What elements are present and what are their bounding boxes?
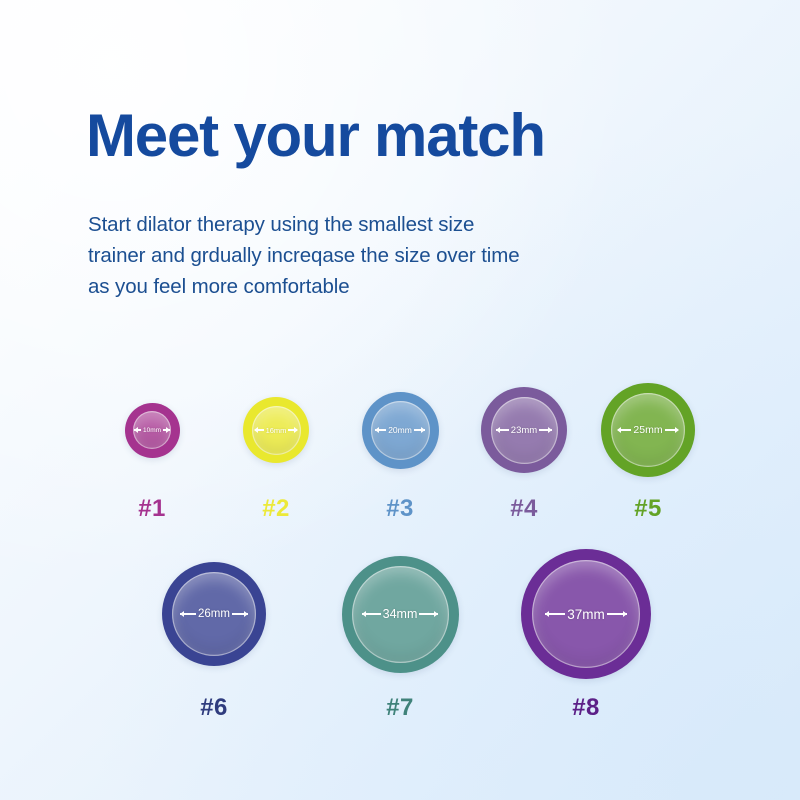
arrow-right-icon xyxy=(414,429,425,430)
arrow-right-icon xyxy=(607,613,627,614)
dilator-card-6[interactable]: 26mm#6 xyxy=(121,548,307,722)
subtitle-line-1: Start dilator therapy using the smallest… xyxy=(88,209,520,240)
page-subtitle: Start dilator therapy using the smallest… xyxy=(88,209,520,302)
dilator-disc[interactable]: 23mm xyxy=(481,387,567,473)
dimension-arrow: 20mm xyxy=(376,425,425,435)
dilator-disc-wrap: 25mm xyxy=(601,378,695,482)
page-title: Meet your match xyxy=(86,104,545,167)
dilator-index-label: #5 xyxy=(634,495,662,523)
dilator-card-7[interactable]: 34mm#7 xyxy=(307,548,493,722)
dilator-card-5[interactable]: 25mm#5 xyxy=(586,378,710,523)
arrow-right-icon xyxy=(419,613,437,614)
dimension-arrow: 26mm xyxy=(179,608,250,620)
arrow-right-icon xyxy=(665,429,679,430)
dimension-arrow: 25mm xyxy=(617,424,679,436)
dilator-card-4[interactable]: 23mm#4 xyxy=(462,378,586,523)
dilator-size-label: 37mm xyxy=(567,607,605,622)
dilator-size-label: 26mm xyxy=(198,608,230,620)
arrow-left-icon xyxy=(180,613,196,614)
dimension-arrow: 37mm xyxy=(540,607,632,622)
dilator-card-8[interactable]: 37mm#8 xyxy=(493,548,679,722)
dilator-disc-wrap: 23mm xyxy=(481,378,567,482)
subtitle-line-3: as you feel more comfortable xyxy=(88,271,520,302)
dilator-disc[interactable]: 25mm xyxy=(601,383,695,477)
dilator-index-label: #8 xyxy=(572,694,600,722)
arrow-right-icon xyxy=(288,429,297,430)
dilator-card-2[interactable]: 16mm#2 xyxy=(214,378,338,523)
dilator-card-3[interactable]: 20mm#3 xyxy=(338,378,462,523)
dilator-disc[interactable]: 20mm xyxy=(362,392,439,469)
dilator-disc-wrap: 34mm xyxy=(342,548,459,680)
arrow-left-icon xyxy=(134,429,141,430)
dilator-size-label: 25mm xyxy=(633,424,662,436)
dilator-disc-wrap: 20mm xyxy=(362,378,439,482)
arrow-left-icon xyxy=(496,429,508,430)
arrow-right-icon xyxy=(232,613,248,614)
dilator-row-bottom: 26mm#634mm#737mm#8 xyxy=(0,548,800,722)
dilator-disc[interactable]: 37mm xyxy=(521,549,651,679)
dilator-disc[interactable]: 16mm xyxy=(243,397,309,463)
dilator-row-top: 10mm#116mm#220mm#323mm#425mm#5 xyxy=(0,378,800,523)
arrow-left-icon xyxy=(618,429,632,430)
dilator-disc[interactable]: 26mm xyxy=(162,562,266,666)
dilator-size-label: 34mm xyxy=(383,607,418,621)
dilator-size-label: 20mm xyxy=(388,425,412,435)
dilator-size-label: 10mm xyxy=(143,427,161,434)
arrow-right-icon xyxy=(163,429,170,430)
arrow-left-icon xyxy=(255,429,264,430)
dilator-index-label: #2 xyxy=(262,495,290,523)
dimension-arrow: 10mm xyxy=(137,427,167,434)
arrow-left-icon xyxy=(375,429,386,430)
arrow-left-icon xyxy=(362,613,380,614)
dilator-disc-wrap: 16mm xyxy=(243,378,309,482)
dilator-disc[interactable]: 34mm xyxy=(342,556,459,673)
dilator-index-label: #6 xyxy=(200,694,228,722)
dilator-disc-wrap: 37mm xyxy=(521,548,651,680)
dilator-disc-wrap: 26mm xyxy=(162,548,266,680)
dilator-card-1[interactable]: 10mm#1 xyxy=(90,378,214,523)
dilator-index-label: #3 xyxy=(386,495,414,523)
dimension-arrow: 23mm xyxy=(496,425,552,436)
dilator-disc[interactable]: 10mm xyxy=(125,403,180,458)
dilator-index-label: #4 xyxy=(510,495,538,523)
dimension-arrow: 16mm xyxy=(256,426,296,435)
poster-canvas: Meet your match Start dilator therapy us… xyxy=(0,0,800,800)
subtitle-line-2: trainer and grdually increqase the size … xyxy=(88,240,520,271)
dilator-size-label: 23mm xyxy=(511,425,537,436)
dilator-size-label: 16mm xyxy=(266,426,287,435)
arrow-right-icon xyxy=(539,429,551,430)
dilator-disc-wrap: 10mm xyxy=(125,378,180,482)
dilator-index-label: #7 xyxy=(386,694,414,722)
arrow-left-icon xyxy=(545,613,565,614)
dilator-index-label: #1 xyxy=(138,495,166,523)
dimension-arrow: 34mm xyxy=(359,607,442,621)
